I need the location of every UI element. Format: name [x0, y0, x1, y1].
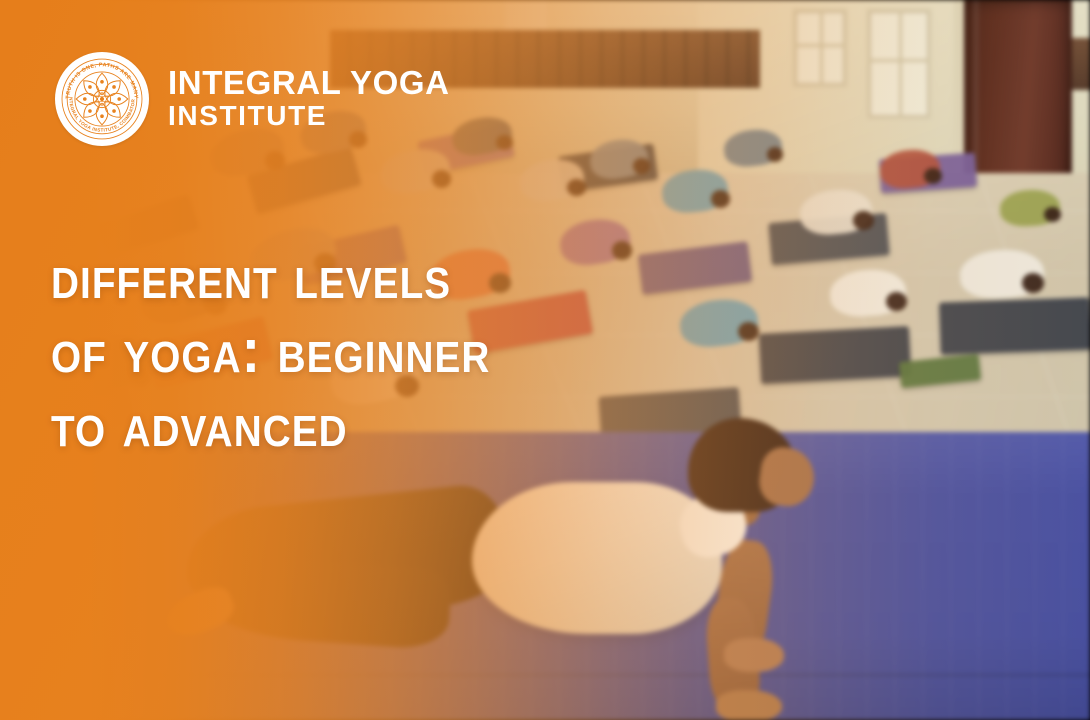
brand-logo[interactable]: • TRUTH IS ONE, PATHS ARE MANY • INTEGRA…	[55, 52, 450, 146]
yoga-blog-banner: • TRUTH IS ONE, PATHS ARE MANY • INTEGRA…	[0, 0, 1090, 720]
lotus-mandala-emblem-icon: • TRUTH IS ONE, PATHS ARE MANY • INTEGRA…	[55, 52, 149, 146]
headline: Different Levels of Yoga: Beginner to Ad…	[51, 240, 611, 462]
brand-name-line1: INTEGRAL YOGA	[168, 66, 450, 100]
brand-wordmark: INTEGRAL YOGA INSTITUTE	[168, 66, 450, 133]
headline-line-2: of Yoga: Beginner	[51, 314, 544, 388]
brand-name-line2: INSTITUTE	[168, 99, 450, 132]
headline-line-3: to Advanced	[51, 388, 544, 462]
headline-line-1: Different Levels	[51, 240, 544, 314]
